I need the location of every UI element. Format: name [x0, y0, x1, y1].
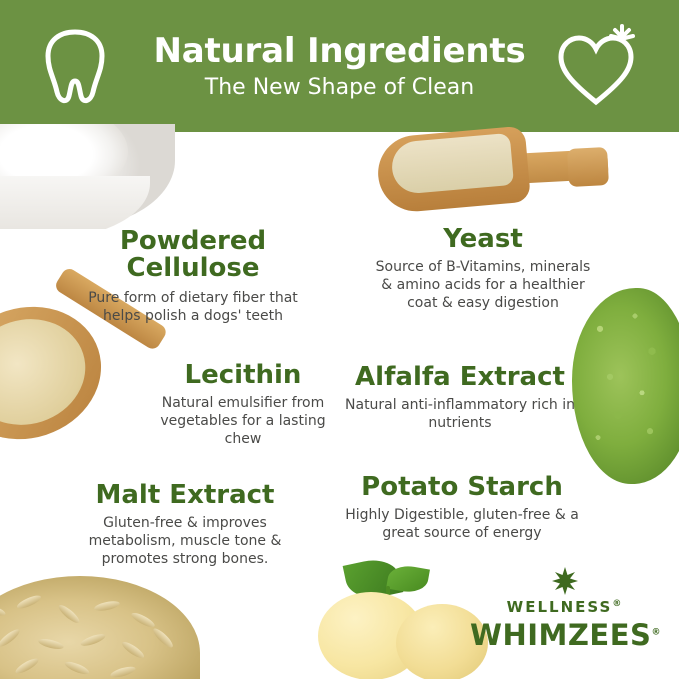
ingredient-description: Pure form of dietary fiber that helps po…	[88, 290, 298, 326]
ingredient-name: Yeast	[372, 226, 594, 253]
wooden-scoop-yeast-photo	[372, 128, 604, 224]
ingredient-name: Powdered Cellulose	[88, 228, 298, 283]
ingredient-alfalfa-extract: Alfalfa Extract Natural anti-inflammator…	[340, 364, 580, 433]
ingredient-yeast: Yeast Source of B-Vitamins, minerals & a…	[372, 226, 594, 313]
powder-bowl-photo	[0, 124, 175, 229]
potato-photo	[300, 560, 490, 679]
ingredient-name: Malt Extract	[70, 482, 300, 509]
ingredient-powdered-cellulose: Powdered Cellulose Pure form of dietary …	[88, 228, 298, 325]
ingredient-lecithin: Lecithin Natural emulsifier from vegetab…	[155, 362, 331, 449]
brand-logo: WELLNESS® WHIMZEES®	[470, 566, 660, 652]
ingredient-name: Potato Starch	[330, 474, 594, 501]
sparkle-paw-icon	[548, 566, 582, 596]
page-subtitle: The New Shape of Clean	[153, 77, 525, 99]
alfalfa-sprouts-photo	[572, 288, 679, 493]
logo-wellness-text: WELLNESS®	[470, 598, 660, 616]
header-banner: Natural Ingredients The New Shape of Cle…	[0, 0, 679, 132]
ingredient-potato-starch: Potato Starch Highly Digestible, gluten-…	[330, 474, 594, 543]
tooth-icon	[40, 26, 110, 106]
heart-sparkle-icon	[553, 24, 639, 108]
barley-grains-photo	[0, 576, 200, 679]
ingredient-name: Lecithin	[155, 362, 331, 389]
ingredient-description: Natural emulsifier from vegetables for a…	[155, 395, 331, 449]
ingredient-description: Source of B-Vitamins, minerals & amino a…	[372, 259, 594, 313]
ingredient-description: Natural anti-inflammatory rich in nutrie…	[340, 397, 580, 433]
header-text-group: Natural Ingredients The New Shape of Cle…	[153, 34, 525, 99]
page-title: Natural Ingredients	[153, 34, 525, 68]
ingredient-description: Highly Digestible, gluten-free & a great…	[330, 507, 594, 543]
ingredient-description: Gluten-free & improves metabolism, muscl…	[70, 515, 300, 569]
ingredient-malt-extract: Malt Extract Gluten-free & improves meta…	[70, 482, 300, 569]
ingredient-name: Alfalfa Extract	[340, 364, 580, 391]
logo-whimzees-text: WHIMZEES®	[470, 618, 660, 652]
ingredients-infographic: Natural Ingredients The New Shape of Cle…	[0, 0, 679, 679]
